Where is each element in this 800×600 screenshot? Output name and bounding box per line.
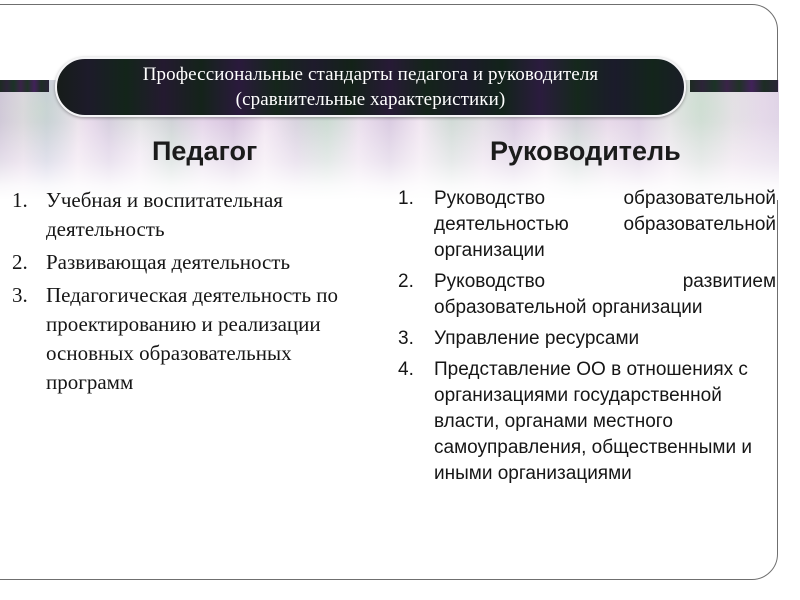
list-item: 4. Представление ОО в отношениях с орган… <box>398 357 776 487</box>
column-heading-rukovoditel: Руководитель <box>490 136 681 167</box>
column-pedagog: 1. Учебная и воспитательная деятельность… <box>12 186 380 401</box>
accent-bar-right <box>690 80 778 92</box>
list-item: 3. Педагогическая деятельность по проект… <box>12 281 380 397</box>
list-item-text: Представление ОО в отношениях с организа… <box>434 357 776 487</box>
list-item: 1. Учебная и воспитательная деятельность <box>12 186 380 244</box>
pedagog-list: 1. Учебная и воспитательная деятельность… <box>12 186 380 397</box>
list-item: 1. Руководство образовательной деятельно… <box>398 186 776 264</box>
list-item: 2. Развивающая деятельность <box>12 248 380 277</box>
list-item-number: 2. <box>12 248 42 277</box>
slide-title-line-1: Профессиональные стандарты педагога и ру… <box>143 62 599 87</box>
list-item-number: 4. <box>398 357 428 383</box>
list-item-number: 2. <box>398 269 428 295</box>
list-item-text: Учебная и воспитательная деятельность <box>46 186 380 244</box>
list-item-number: 1. <box>398 186 428 212</box>
list-item-number: 1. <box>12 186 42 215</box>
list-item-number: 3. <box>12 281 42 310</box>
list-item-number: 3. <box>398 326 428 352</box>
slide-title-banner: Профессиональные стандарты педагога и ру… <box>55 57 686 117</box>
rukovoditel-list: 1. Руководство образовательной деятельно… <box>398 186 776 487</box>
accent-bar-left <box>0 80 49 92</box>
list-item-text: Руководство развитием образовательной ор… <box>434 269 776 321</box>
list-item: 2. Руководство развитием образовательной… <box>398 269 776 321</box>
list-item-text: Развивающая деятельность <box>46 248 380 277</box>
list-item-text: Педагогическая деятельность по проектиро… <box>46 281 380 397</box>
column-heading-pedagog: Педагог <box>152 136 257 167</box>
slide-title-line-2: (сравнительные характеристики) <box>236 87 506 112</box>
list-item: 3. Управление ресурсами <box>398 326 776 352</box>
list-item-text: Руководство образовательной деятельность… <box>434 186 776 264</box>
list-item-text: Управление ресурсами <box>434 326 776 352</box>
column-rukovoditel: 1. Руководство образовательной деятельно… <box>398 186 776 492</box>
